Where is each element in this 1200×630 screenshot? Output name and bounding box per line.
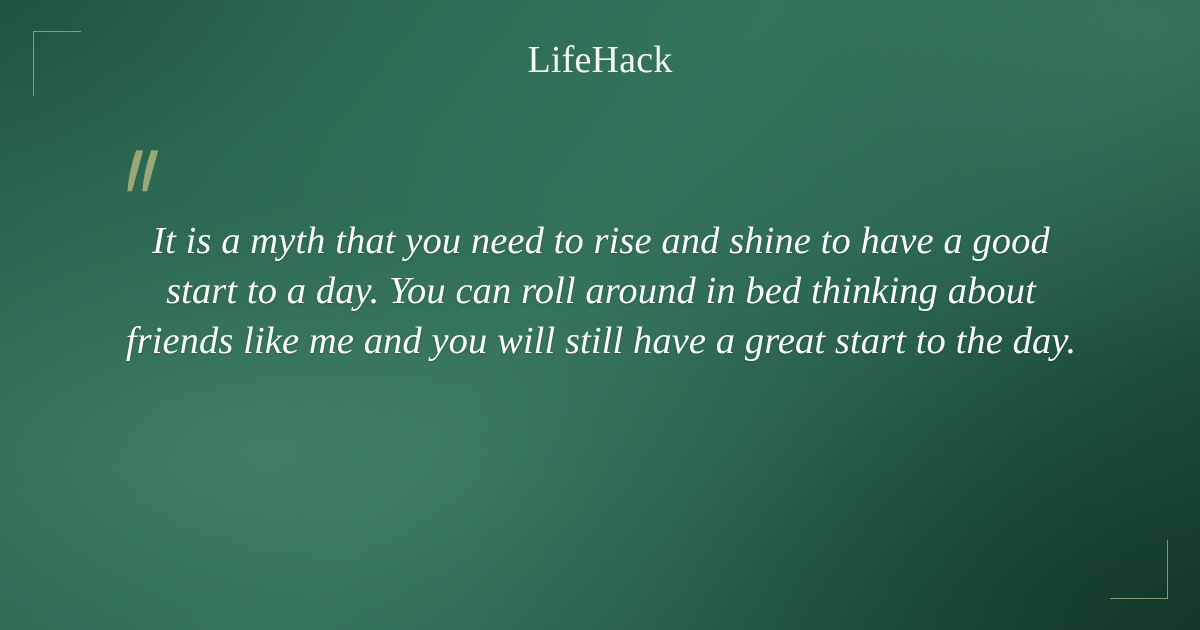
quote-card: LifeHack It is a myth that you need to r…: [0, 0, 1200, 630]
brand-logo: LifeHack: [0, 38, 1200, 82]
quote-block: It is a myth that you need to rise and s…: [123, 216, 1079, 366]
quotation-mark-icon: [126, 128, 196, 198]
quote-text: It is a myth that you need to rise and s…: [123, 216, 1079, 366]
